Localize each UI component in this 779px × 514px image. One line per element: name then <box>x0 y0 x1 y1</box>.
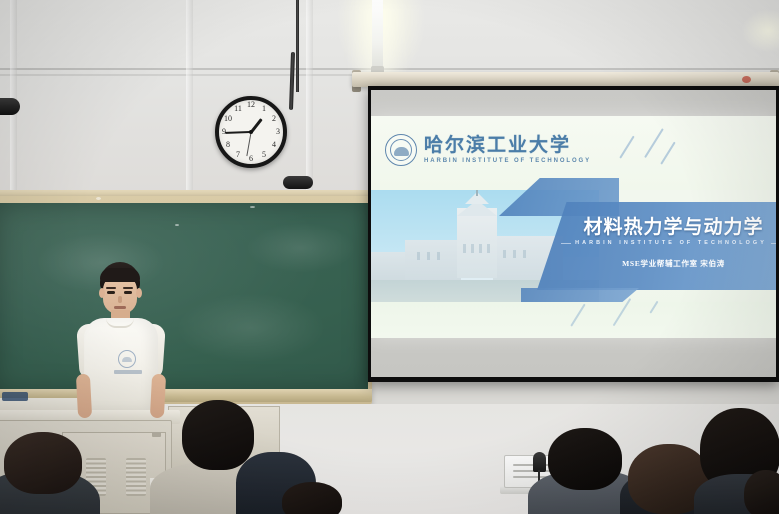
clock-second-hand <box>246 132 251 156</box>
slide-subtitle-en-row: HARBIN INSTITUTE OF TECHNOLOGY <box>561 240 776 246</box>
presenter-arm-left <box>76 374 92 419</box>
photo-building-spire <box>476 190 478 196</box>
presenter-eye-right <box>124 291 132 294</box>
hit-logo: 哈尔滨工业大学 HARBIN INSTITUTE OF TECHNOLOGY <box>385 134 591 166</box>
presenter-brow-left <box>106 287 116 289</box>
fluorescent-tube-light <box>372 0 383 74</box>
university-name-en: HARBIN INSTITUTE OF TECHNOLOGY <box>424 158 591 164</box>
wall-pillar-mid <box>186 0 193 200</box>
desk-object-book <box>2 392 28 401</box>
presenter-mouth <box>114 306 126 309</box>
desk-microphone <box>533 452 546 472</box>
presenter-eye-left <box>107 291 115 294</box>
presenter-standing <box>66 262 176 422</box>
wall-speaker <box>283 176 313 189</box>
clock-minute-hand <box>225 131 251 134</box>
clock-num-1: 1 <box>259 104 269 113</box>
clock-num-6: 6 <box>246 154 256 163</box>
clock-num-11: 11 <box>233 104 243 113</box>
clock-num-12: 12 <box>246 100 256 109</box>
screen-surface: 哈尔滨工业大学 HARBIN INSTITUTE OF TECHNOLOGY <box>371 90 776 377</box>
subtitle-rule-left <box>561 243 571 244</box>
presenter-fringe <box>100 268 140 282</box>
university-name-cn: 哈尔滨工业大学 <box>424 136 591 156</box>
presenter-ear-right <box>136 288 142 298</box>
projection-screen[interactable]: 哈尔滨工业大学 HARBIN INSTITUTE OF TECHNOLOGY <box>368 86 779 382</box>
clock-num-7: 7 <box>233 150 243 159</box>
subtitle-rule-right <box>771 243 776 244</box>
clock-num-4: 4 <box>269 140 279 149</box>
audience-head-center <box>282 482 342 514</box>
audience-head-laptop-user <box>548 428 622 490</box>
clock-num-2: 2 <box>269 114 279 123</box>
presenter-ear-left <box>99 288 105 298</box>
lamp-glow-secondary <box>742 10 779 52</box>
podium-vent-right <box>126 458 146 496</box>
audience-head-right-3 <box>744 470 779 514</box>
wall-seam-upper <box>0 68 779 70</box>
presenter-arm-right <box>150 374 166 419</box>
slide-title: 材料热力学与动力学 <box>571 212 776 239</box>
wall-pillar-right <box>306 0 313 200</box>
audience-head-left-1 <box>4 432 82 494</box>
wall-speaker-left <box>0 98 20 115</box>
slide-subtitle-cn: MSE学业帮辅工作室 宋伯涛 <box>571 258 776 269</box>
classroom-photo: 12 1 2 3 4 5 6 7 8 9 10 11 <box>0 0 779 514</box>
screen-roller-housing <box>352 72 779 87</box>
presenter-tshirt-logo <box>118 350 136 368</box>
presenter-tshirt-text <box>114 370 142 374</box>
roller-brand-logo <box>742 76 751 83</box>
projected-slide: 哈尔滨工业大学 HARBIN INSTITUTE OF TECHNOLOGY <box>371 116 776 338</box>
podium-lock[interactable] <box>152 432 161 437</box>
slide-subtitle-en: HARBIN INSTITUTE OF TECHNOLOGY <box>575 240 767 246</box>
presenter-brow-right <box>123 287 133 289</box>
presenter-nose <box>118 296 122 303</box>
clock-center-pin <box>249 130 253 134</box>
clock-num-10: 10 <box>223 114 233 123</box>
hit-seal-icon <box>385 134 417 166</box>
ceiling-hanging-rod <box>296 0 299 92</box>
clock-num-3: 3 <box>273 127 283 136</box>
clock-num-8: 8 <box>223 140 233 149</box>
green-chalkboard <box>0 203 368 391</box>
clock-num-5: 5 <box>259 150 269 159</box>
audience-head-left-2 <box>182 400 254 470</box>
photo-building-tower <box>457 208 497 278</box>
wall-clock: 12 1 2 3 4 5 6 7 8 9 10 11 <box>215 96 287 168</box>
